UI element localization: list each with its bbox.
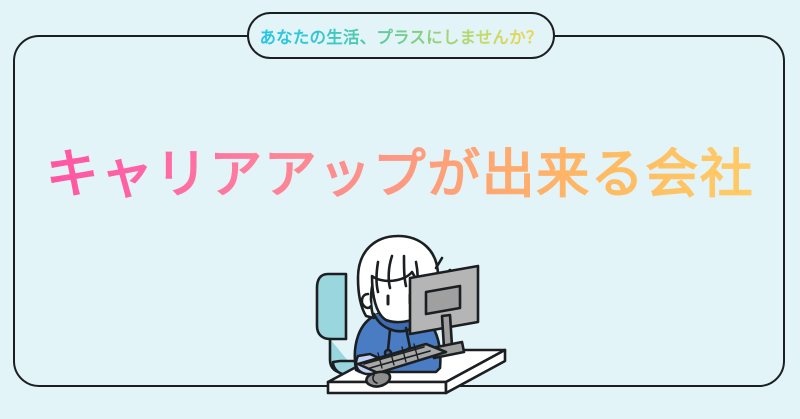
- illustration-person-at-desk: [300, 222, 520, 402]
- page-title: キャリアアップが出来る会社: [46, 147, 755, 203]
- tagline-text: あなたの生活、プラスにしませんか？: [259, 24, 542, 48]
- tagline-badge: あなたの生活、プラスにしませんか？: [247, 12, 555, 59]
- computer-mouse: [366, 372, 390, 387]
- poster-canvas: あなたの生活、プラスにしませんか？ キャリアアップが出来る会社: [0, 0, 800, 419]
- headline-container: キャリアアップが出来る会社: [0, 147, 800, 203]
